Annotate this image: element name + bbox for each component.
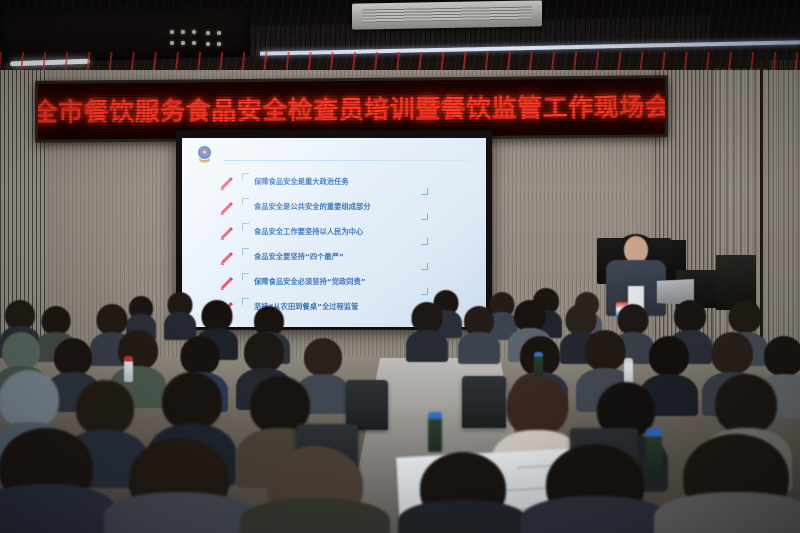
water-bottle (428, 412, 442, 452)
head (181, 336, 220, 375)
conference-room-photo: 全市餐饮服务食品安全检查员培训暨餐饮监管工作现场会 保障食品安全是重大政治任务 (0, 0, 800, 533)
chair-back (346, 380, 388, 430)
water-bottle (534, 352, 543, 378)
head (729, 300, 762, 333)
audience-member (520, 444, 670, 533)
water-bottle (624, 358, 633, 384)
led-banner-text: 全市餐饮服务食品安全检查员培训暨餐饮监管工作现场会 (35, 94, 668, 125)
head (711, 332, 753, 374)
pen-icon (218, 175, 235, 192)
audience-member (104, 438, 254, 533)
list-item: 食品安全要坚持“四个最严” (218, 247, 468, 272)
shoulders (0, 484, 116, 533)
head (42, 306, 71, 335)
pen-icon (218, 225, 235, 242)
pen-icon (218, 275, 235, 292)
bullet-text: 食品安全要坚持“四个最严” (254, 252, 344, 262)
government-emblem-logo (196, 145, 213, 164)
head (202, 300, 233, 331)
ac-vent-louvers (362, 7, 532, 23)
shoulders (458, 332, 500, 364)
list-item: 食品安全是公共安全的重要组成部分 (218, 197, 468, 222)
shoulders (406, 330, 448, 362)
wood-column (768, 60, 800, 370)
head (585, 330, 626, 371)
audience-member (240, 446, 390, 533)
bullet-text: 食品安全是公共安全的重要组成部分 (254, 202, 371, 212)
slide-divider-line (224, 160, 476, 161)
head (162, 372, 222, 430)
head (2, 332, 40, 370)
shoulders (104, 492, 254, 533)
head (649, 336, 689, 376)
shoulders (520, 496, 670, 533)
head (244, 332, 284, 372)
head (412, 302, 443, 333)
bullet-text: 保障食品安全必须坚持“党政同责” (254, 277, 366, 287)
shoulders (398, 500, 528, 533)
list-item: 食品安全工作要坚持以人民为中心 (218, 222, 468, 247)
head (715, 374, 777, 434)
ceiling (0, 0, 800, 78)
shoulders (654, 492, 800, 533)
head (674, 300, 706, 332)
head (506, 376, 568, 436)
head (764, 336, 800, 376)
head (0, 370, 59, 428)
water-bottle (124, 356, 133, 382)
bullet-text: 食品安全工作要坚持以人民为中心 (254, 227, 363, 237)
pen-icon (218, 200, 235, 217)
audience-member (164, 292, 196, 340)
ceiling-spotlight-grid (170, 30, 230, 48)
audience-member (0, 428, 116, 533)
pen-icon (218, 250, 235, 267)
head (304, 338, 342, 376)
audience-member (654, 434, 800, 533)
shoulders (240, 498, 390, 533)
audience-member (398, 452, 528, 533)
ceiling-air-conditioner-icon (352, 0, 542, 29)
presenter-head (624, 236, 648, 263)
list-item: 保障食品安全是重大政治任务 (218, 172, 468, 197)
audience-member (406, 302, 448, 362)
bullet-text: 保障食品安全是重大政治任务 (254, 177, 349, 187)
audience-member (458, 306, 500, 364)
